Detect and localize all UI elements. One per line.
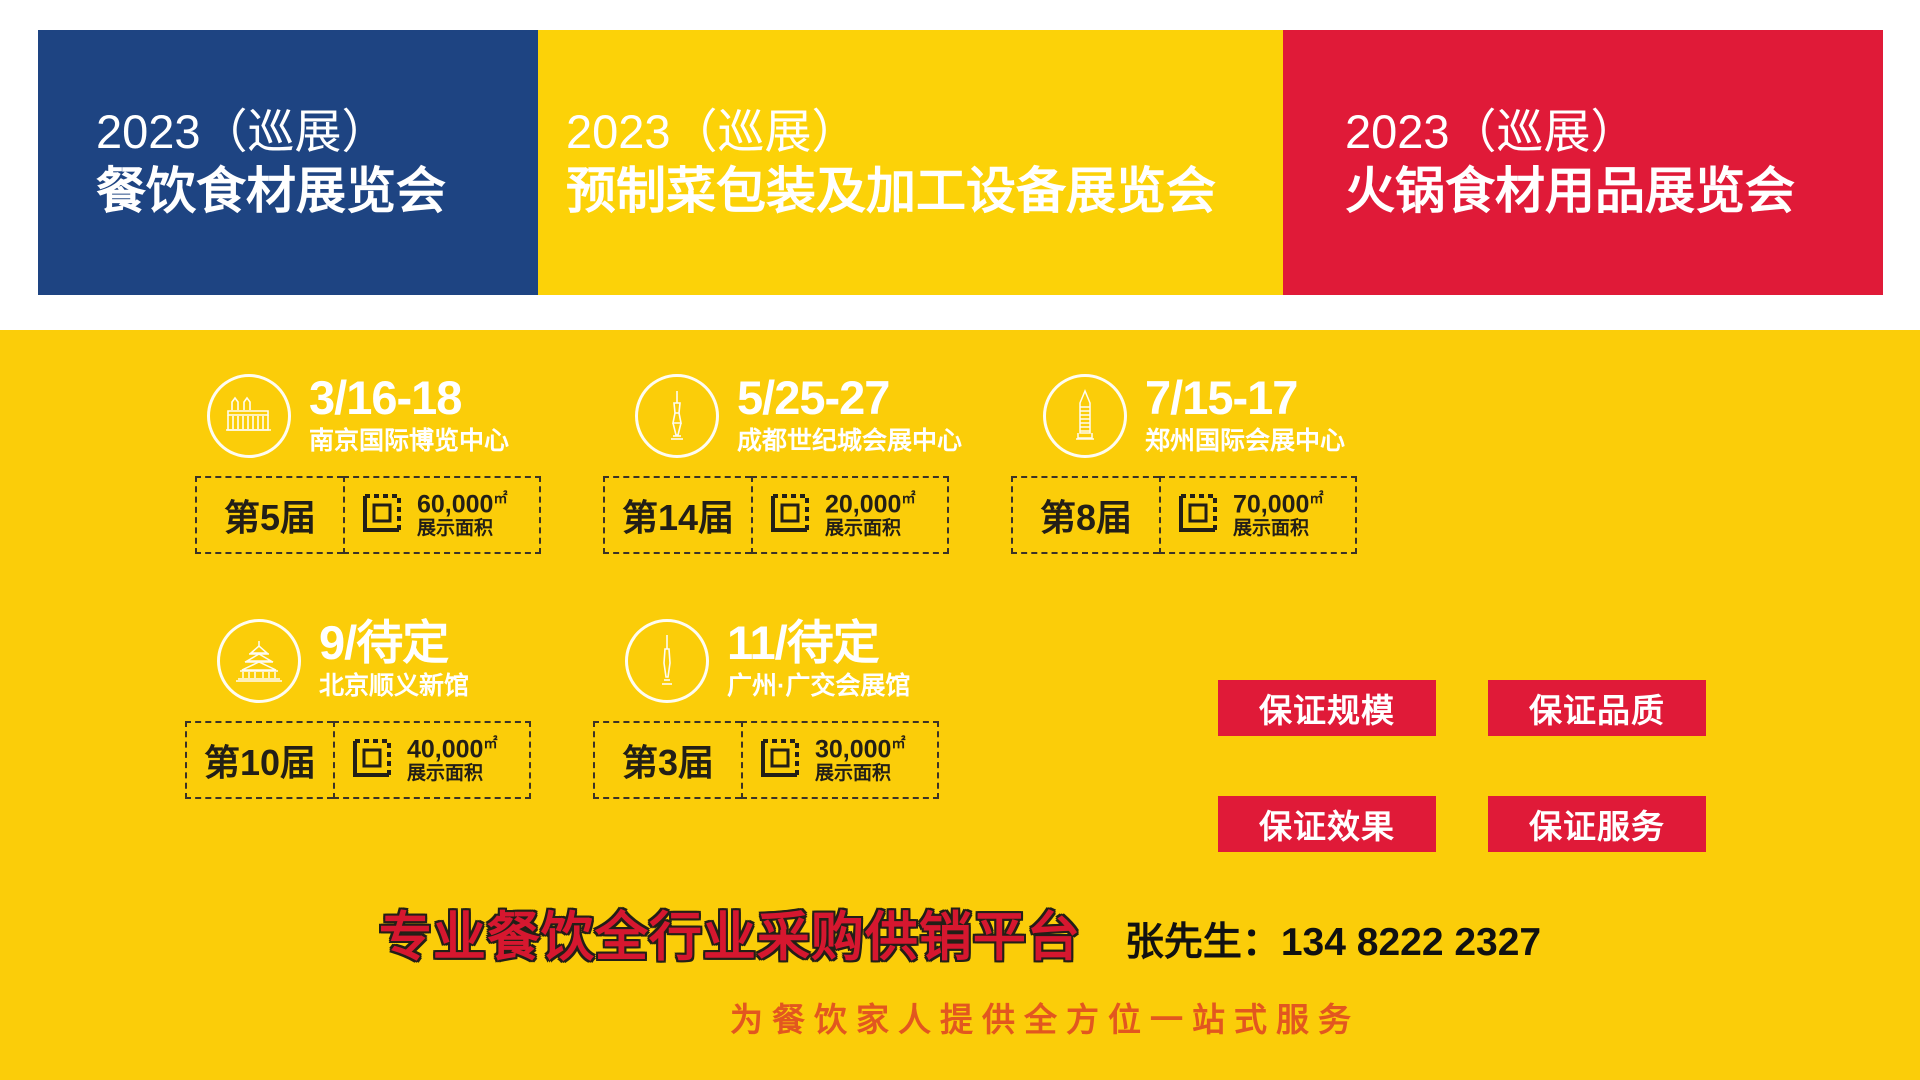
exhibition-area-icon (767, 490, 813, 541)
venue-area-label: 展示面积 (825, 519, 915, 539)
venue-card-info: 第5届 60,000㎡ 展示面积 (195, 476, 541, 554)
venue-date: 11/待定 (727, 619, 910, 666)
venue-card: 5/25-27 成都世纪城会展中心 第14届 (603, 370, 1011, 554)
venue-edition: 第14届 (622, 489, 734, 541)
venue-area-cell: 70,000㎡ 展示面积 (1159, 476, 1357, 554)
venue-card-info: 第10届 40,000㎡ 展示面积 (185, 721, 531, 799)
venue-date: 9/待定 (319, 619, 469, 666)
venue-name: 北京顺义新馆 (319, 670, 469, 704)
chengdu-tower-icon (635, 374, 719, 458)
exhibition-area-icon (757, 735, 803, 786)
venue-name: 南京国际博览中心 (309, 425, 509, 459)
exhibition-area-icon (359, 490, 405, 541)
footer-slogan: 专业餐饮全行业采购供销平台 (379, 895, 1081, 971)
header-panel-title-line: 火锅食材用品展览会 (1345, 161, 1863, 222)
venue-edition: 第10届 (204, 734, 316, 786)
venue-card: 3/16-18 南京国际博览中心 第5届 (195, 370, 603, 554)
venue-card-info: 第3届 30,000㎡ 展示面积 (593, 721, 939, 799)
venue-card-header: 9/待定 北京顺义新馆 (185, 615, 593, 707)
guarantee-badge-quality[interactable]: 保证品质 (1488, 680, 1706, 736)
venue-edition-cell: 第14届 (603, 476, 751, 554)
venue-card-row-2: 9/待定 北京顺义新馆 第10届 (185, 615, 1001, 799)
venue-date: 3/16-18 (309, 374, 509, 421)
guarantee-badge-scale[interactable]: 保证规模 (1218, 680, 1436, 736)
venue-area-label: 展示面积 (815, 764, 905, 784)
venue-area-value: 60,000㎡ (417, 491, 507, 518)
exhibition-area-icon (349, 735, 395, 786)
guarantee-badge-grid: 保证规模 保证品质 保证效果 保证服务 (1218, 680, 1706, 852)
header-panel-year-line: 2023（巡展） (96, 103, 518, 160)
venue-edition: 第8届 (1040, 489, 1132, 541)
header-banner-strip: 2023（巡展） 餐饮食材展览会 2023（巡展） 预制菜包装及加工设备展览会 … (38, 30, 1883, 295)
venue-area-cell: 20,000㎡ 展示面积 (751, 476, 949, 554)
venue-area-texts: 70,000㎡ 展示面积 (1233, 491, 1323, 540)
venue-area-texts: 20,000㎡ 展示面积 (825, 491, 915, 540)
nanjing-expo-building-icon (207, 374, 291, 458)
venue-area-cell: 30,000㎡ 展示面积 (741, 721, 939, 799)
venue-name: 广州·广交会展馆 (727, 670, 910, 704)
venue-card-info: 第8届 70,000㎡ 展示面积 (1011, 476, 1357, 554)
footer: 专业餐饮全行业采购供销平台 张先生：134 8222 2327 为餐饮家人提供全… (0, 895, 1920, 1041)
header-panel-year-line: 2023（巡展） (1345, 103, 1863, 160)
venue-area-value: 70,000㎡ (1233, 491, 1323, 518)
guangzhou-canton-tower-icon (625, 619, 709, 703)
footer-contact: 张先生：134 8222 2327 (1125, 911, 1541, 967)
venue-card-header-text: 5/25-27 成都世纪城会展中心 (737, 374, 962, 459)
venue-name: 成都世纪城会展中心 (737, 425, 962, 459)
guarantee-badge-effect[interactable]: 保证效果 (1218, 796, 1436, 852)
venue-edition-cell: 第10届 (185, 721, 333, 799)
venue-area-value: 20,000㎡ (825, 491, 915, 518)
venue-edition: 第5届 (224, 489, 316, 541)
guarantee-badge-service[interactable]: 保证服务 (1488, 796, 1706, 852)
main-yellow-body: 3/16-18 南京国际博览中心 第5届 (0, 330, 1920, 1080)
venue-area-value: 30,000㎡ (815, 736, 905, 763)
venue-edition-cell: 第5届 (195, 476, 343, 554)
venue-edition: 第3届 (622, 734, 714, 786)
venue-area-cell: 60,000㎡ 展示面积 (343, 476, 541, 554)
venue-card: 11/待定 广州·广交会展馆 第3届 (593, 615, 1001, 799)
venue-card: 7/15-17 郑州国际会展中心 第8届 (1011, 370, 1419, 554)
venue-area-label: 展示面积 (1233, 519, 1323, 539)
header-panel-catering-ingredients: 2023（巡展） 餐饮食材展览会 (38, 30, 538, 295)
venue-card-header-text: 3/16-18 南京国际博览中心 (309, 374, 509, 459)
venue-area-label: 展示面积 (417, 519, 507, 539)
venue-date: 5/25-27 (737, 374, 962, 421)
venue-card-header: 5/25-27 成都世纪城会展中心 (603, 370, 1011, 462)
venue-card-header: 7/15-17 郑州国际会展中心 (1011, 370, 1419, 462)
venue-card-header-text: 7/15-17 郑州国际会展中心 (1145, 374, 1345, 459)
venue-card-row-1: 3/16-18 南京国际博览中心 第5届 (195, 370, 1419, 554)
venue-name: 郑州国际会展中心 (1145, 425, 1345, 459)
venue-edition-cell: 第8届 (1011, 476, 1159, 554)
venue-card-header: 3/16-18 南京国际博览中心 (195, 370, 603, 462)
header-panel-title-line: 餐饮食材展览会 (96, 161, 518, 222)
footer-main-row: 专业餐饮全行业采购供销平台 张先生：134 8222 2327 (0, 895, 1920, 971)
venue-area-label: 展示面积 (407, 764, 497, 784)
venue-card: 9/待定 北京顺义新馆 第10届 (185, 615, 593, 799)
header-panel-year-line: 2023（巡展） (566, 103, 1263, 160)
venue-card-header: 11/待定 广州·广交会展馆 (593, 615, 1001, 707)
venue-date: 7/15-17 (1145, 374, 1345, 421)
zhengzhou-pagoda-icon (1043, 374, 1127, 458)
header-panel-prepared-dish-equipment: 2023（巡展） 预制菜包装及加工设备展览会 (538, 30, 1283, 295)
exhibition-area-icon (1175, 490, 1221, 541)
venue-card-info: 第14届 20,000㎡ 展示面积 (603, 476, 949, 554)
venue-area-texts: 40,000㎡ 展示面积 (407, 736, 497, 785)
venue-area-value: 40,000㎡ (407, 736, 497, 763)
venue-card-header-text: 11/待定 广州·广交会展馆 (727, 619, 910, 704)
venue-area-cell: 40,000㎡ 展示面积 (333, 721, 531, 799)
beijing-temple-of-heaven-icon (217, 619, 301, 703)
venue-card-header-text: 9/待定 北京顺义新馆 (319, 619, 469, 704)
header-panel-hotpot-supplies: 2023（巡展） 火锅食材用品展览会 (1283, 30, 1883, 295)
header-panel-title-line: 预制菜包装及加工设备展览会 (566, 161, 1263, 222)
venue-area-texts: 60,000㎡ 展示面积 (417, 491, 507, 540)
footer-subtitle: 为餐饮家人提供全方位一站式服务 (0, 993, 1920, 1041)
venue-area-texts: 30,000㎡ 展示面积 (815, 736, 905, 785)
venue-edition-cell: 第3届 (593, 721, 741, 799)
